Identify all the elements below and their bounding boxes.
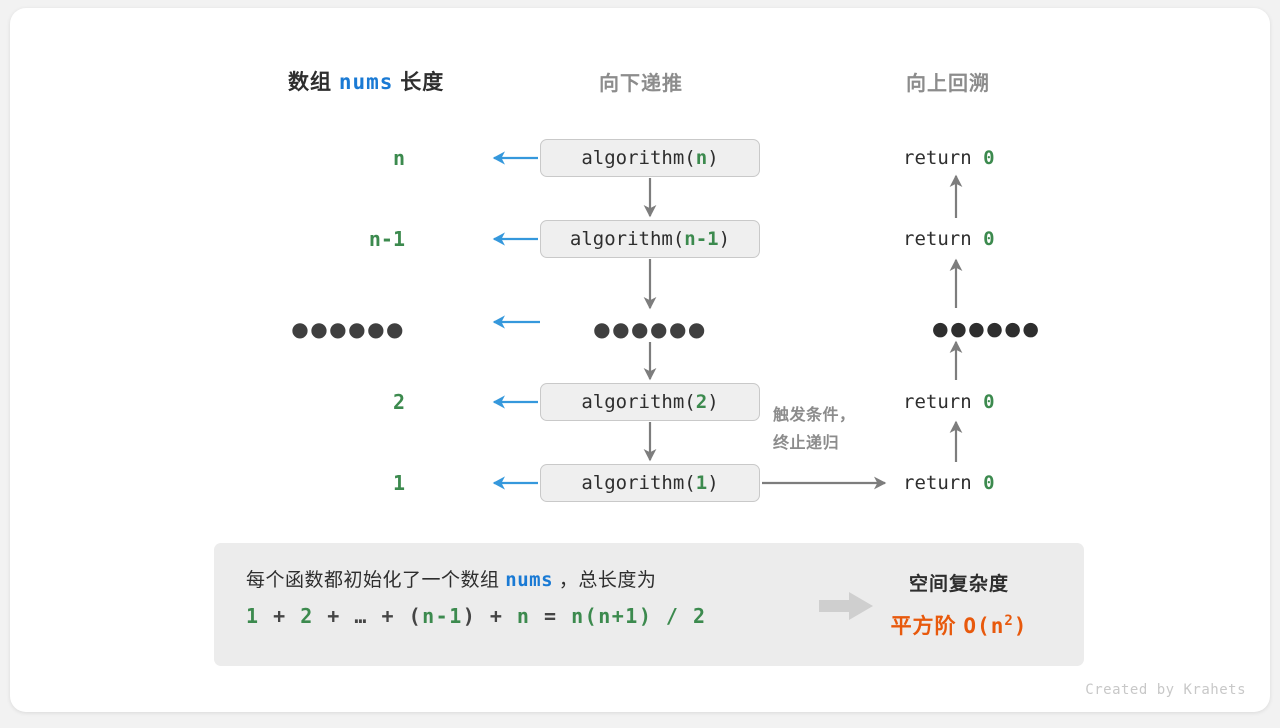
formula-op-3: + — [381, 604, 395, 628]
complexity-title: 空间复杂度 — [854, 569, 1064, 596]
summary-text-block: 每个函数都初始化了一个数组 nums ，总长度为 1 + 2 + … + (n-… — [246, 565, 806, 628]
formula-result: n(n+1) — [571, 604, 652, 628]
header-backtrack-up: 向上回溯 — [906, 67, 990, 96]
return-row-n: return 0 — [903, 147, 995, 169]
return-text-n-1: return — [903, 228, 972, 250]
formula-term-1: 1 — [246, 604, 260, 628]
return-value-2: 0 — [983, 391, 994, 413]
formula-paren-open: ( — [409, 604, 423, 628]
call-box-n-prefix: algorithm( — [581, 147, 695, 169]
complexity-close-paren: ) — [1014, 614, 1028, 638]
summary-text-after: ，总长度为 — [559, 570, 657, 591]
return-text-n: return — [903, 147, 972, 169]
size-label-2: 2 — [285, 390, 405, 414]
call-box-n-1[interactable]: algorithm(n-1) — [540, 220, 760, 258]
formula-equals: = — [544, 604, 558, 628]
return-value-1: 0 — [983, 472, 994, 494]
call-box-n[interactable]: algorithm(n) — [540, 139, 760, 177]
return-row-1: return 0 — [903, 472, 995, 494]
credit-label: Created by Krahets — [1085, 682, 1246, 698]
call-box-n-1-suffix: ) — [719, 228, 730, 250]
call-box-2-suffix: ) — [707, 391, 718, 413]
formula-op-4: + — [490, 604, 504, 628]
complexity-value: 平方阶 O(n2) — [854, 610, 1064, 640]
return-row-n-1: return 0 — [903, 228, 995, 250]
formula-op-2: + — [327, 604, 341, 628]
formula-paren-close: ) — [463, 604, 477, 628]
complexity-big-o: O(n — [963, 614, 1004, 638]
call-column-ellipsis: ●●●●●● — [593, 317, 707, 341]
terminate-note-line2: 终止递归 — [773, 430, 893, 458]
call-box-n-suffix: ) — [707, 147, 718, 169]
terminate-note-line1: 触发条件， — [773, 402, 893, 430]
formula-result-two: 2 — [693, 604, 707, 628]
call-box-2-prefix: algorithm( — [581, 391, 695, 413]
summary-text-before: 每个函数都初始化了一个数组 — [246, 570, 500, 591]
call-box-n-arg: n — [696, 147, 707, 169]
formula-ellipsis: … — [354, 604, 368, 628]
size-label-n: n — [285, 146, 405, 170]
size-label-1: 1 — [285, 471, 405, 495]
size-label-ellipsis: ●●●●●● — [285, 317, 405, 341]
call-box-1[interactable]: algorithm(1) — [540, 464, 760, 502]
complexity-block: 空间复杂度 平方阶 O(n2) — [854, 569, 1064, 640]
return-text-1: return — [903, 472, 972, 494]
return-value-n: 0 — [983, 147, 994, 169]
return-value-n-1: 0 — [983, 228, 994, 250]
call-box-1-prefix: algorithm( — [581, 472, 695, 494]
header-recurse-down: 向下递推 — [599, 67, 683, 96]
formula-op-1: + — [273, 604, 287, 628]
formula-term-2: 2 — [300, 604, 314, 628]
header-array-suffix: 长度 — [400, 71, 444, 94]
header-array-length: 数组 nums 长度 — [288, 66, 444, 96]
size-label-n-1: n-1 — [285, 227, 405, 251]
call-box-1-arg: 1 — [696, 472, 707, 494]
call-box-2-arg: 2 — [696, 391, 707, 413]
call-box-2[interactable]: algorithm(2) — [540, 383, 760, 421]
summary-panel: 每个函数都初始化了一个数组 nums ，总长度为 1 + 2 + … + (n-… — [214, 543, 1084, 666]
header-array-prefix: 数组 — [288, 71, 332, 94]
summary-nums-code: nums — [505, 569, 553, 591]
complexity-label: 平方阶 — [891, 615, 957, 638]
call-box-1-suffix: ) — [707, 472, 718, 494]
header-nums-code: nums — [339, 70, 394, 94]
call-box-n-1-prefix: algorithm( — [570, 228, 684, 250]
call-box-n-1-arg: n-1 — [684, 228, 718, 250]
formula-divide: / — [666, 604, 680, 628]
diagram-card: 数组 nums 长度 向下递推 向上回溯 n n-1 ●●●●●● 2 1 al… — [10, 8, 1270, 712]
return-row-2: return 0 — [903, 391, 995, 413]
formula-term-n-1: n-1 — [422, 604, 463, 628]
formula-term-n: n — [517, 604, 531, 628]
terminate-note: 触发条件， 终止递归 — [773, 402, 893, 458]
complexity-exponent: 2 — [1004, 613, 1013, 629]
return-column-ellipsis: ●●●●●● — [932, 318, 1040, 340]
summary-description: 每个函数都初始化了一个数组 nums ，总长度为 — [246, 565, 806, 592]
summary-formula: 1 + 2 + … + (n-1) + n = n(n+1) / 2 — [246, 604, 806, 628]
return-text-2: return — [903, 391, 972, 413]
